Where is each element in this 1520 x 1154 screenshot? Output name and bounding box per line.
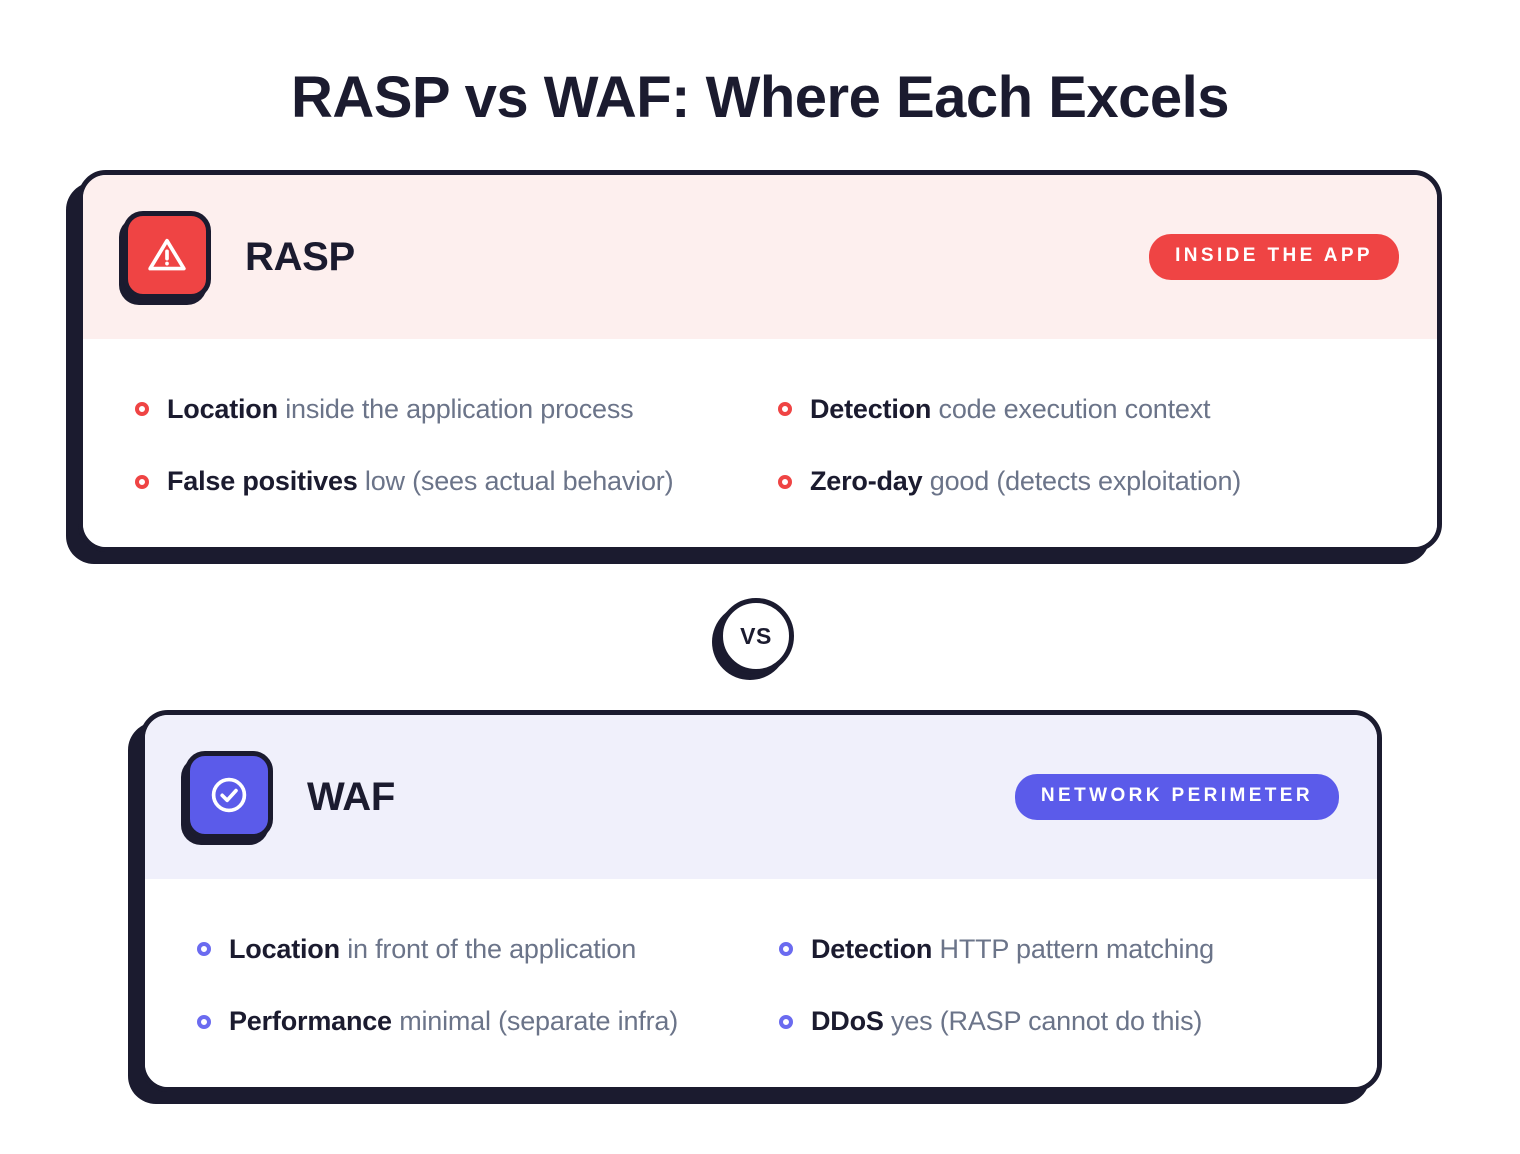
feature-label: Detection	[811, 934, 932, 964]
feature-label: Location	[167, 394, 278, 424]
waf-feature-location: Location in front of the application	[179, 913, 761, 986]
waf-status-badge: NETWORK PERIMETER	[1015, 774, 1339, 820]
rasp-feature-grid: Location inside the application process …	[83, 339, 1437, 552]
feature-value: low (sees actual behavior)	[365, 466, 673, 496]
rasp-card-header: RASP INSIDE THE APP	[83, 175, 1437, 339]
waf-icon-wrapper	[185, 751, 273, 843]
waf-card-header: WAF NETWORK PERIMETER	[145, 715, 1377, 879]
check-circle-icon	[185, 751, 273, 839]
waf-feature-grid: Location in front of the application Det…	[145, 879, 1377, 1092]
versus-label: VS	[718, 598, 794, 674]
waf-feature-detection: Detection HTTP pattern matching	[761, 913, 1343, 986]
feature-label: Zero-day	[810, 466, 922, 496]
waf-card-title: WAF	[307, 775, 395, 820]
waf-card: WAF NETWORK PERIMETER Location in front …	[140, 710, 1382, 1092]
bullet-ring-icon	[778, 475, 792, 489]
feature-label: Performance	[229, 1006, 392, 1036]
rasp-icon-wrapper	[123, 211, 211, 303]
bullet-ring-icon	[779, 942, 793, 956]
bullet-ring-icon	[135, 475, 149, 489]
bullet-ring-icon	[779, 1015, 793, 1029]
rasp-feature-location: Location inside the application process	[117, 373, 760, 446]
feature-label: Detection	[810, 394, 931, 424]
feature-value: code execution context	[939, 394, 1211, 424]
feature-value: good (detects exploitation)	[930, 466, 1241, 496]
rasp-feature-detection: Detection code execution context	[760, 373, 1403, 446]
feature-value: inside the application process	[285, 394, 633, 424]
feature-value: minimal (separate infra)	[399, 1006, 678, 1036]
bullet-ring-icon	[778, 402, 792, 416]
waf-feature-ddos: DDoS yes (RASP cannot do this)	[761, 986, 1343, 1059]
versus-divider: VS	[718, 598, 800, 680]
feature-value: in front of the application	[347, 934, 636, 964]
rasp-feature-false-positives: False positives low (sees actual behavio…	[117, 446, 760, 519]
bullet-ring-icon	[197, 942, 211, 956]
rasp-card: RASP INSIDE THE APP Location inside the …	[78, 170, 1442, 552]
infographic-canvas: RASP vs WAF: Where Each Excels RASP INSI…	[0, 0, 1520, 1154]
page-title: RASP vs WAF: Where Each Excels	[0, 64, 1520, 131]
warning-triangle-icon	[123, 211, 211, 299]
bullet-ring-icon	[135, 402, 149, 416]
bullet-ring-icon	[197, 1015, 211, 1029]
feature-label: False positives	[167, 466, 358, 496]
feature-label: Location	[229, 934, 340, 964]
feature-label: DDoS	[811, 1006, 884, 1036]
feature-value: yes (RASP cannot do this)	[891, 1006, 1202, 1036]
rasp-status-badge: INSIDE THE APP	[1149, 234, 1399, 280]
feature-value: HTTP pattern matching	[940, 934, 1214, 964]
waf-feature-performance: Performance minimal (separate infra)	[179, 986, 761, 1059]
rasp-feature-zero-day: Zero-day good (detects exploitation)	[760, 446, 1403, 519]
rasp-card-title: RASP	[245, 235, 355, 280]
